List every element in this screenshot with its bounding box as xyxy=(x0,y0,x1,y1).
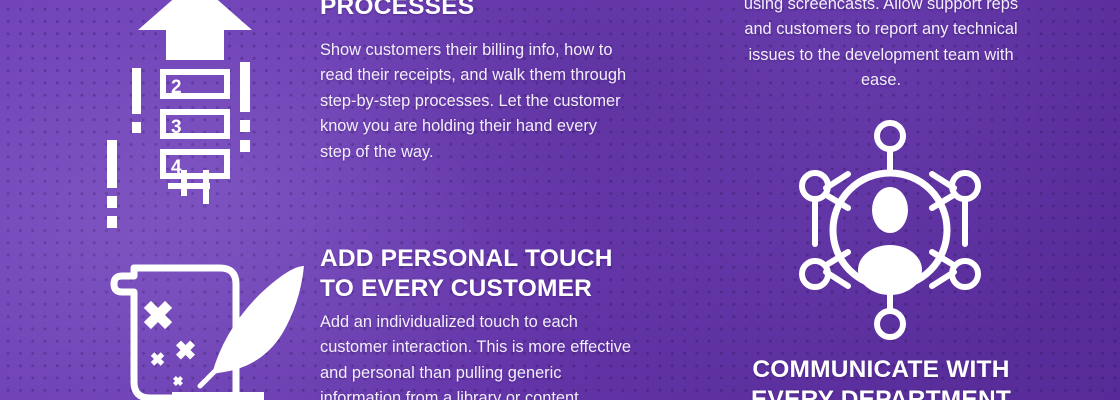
scroll-x-mark-medium xyxy=(176,340,195,359)
heading-processes: PROCESSES xyxy=(320,0,474,22)
step-number-2: 2 xyxy=(171,77,182,98)
step-number-3: 3 xyxy=(171,117,182,138)
numbered-steps-upload-icon: 1 2 3 4 xyxy=(100,0,290,174)
scroll-and-quill-icon xyxy=(112,252,308,400)
people-network-icon xyxy=(782,122,998,338)
body-add-personal-touch: Add an individualized touch to each cust… xyxy=(320,310,632,400)
heading-communicate-with-every-department: COMMUNICATE WITH EVERY DEPARTMENT xyxy=(742,355,1020,400)
step-number-4: 4 xyxy=(171,157,182,178)
body-screencast-support: using screencasts. Allow support reps an… xyxy=(742,0,1020,94)
step-number-1: 1 xyxy=(171,42,182,63)
scroll-x-mark-large xyxy=(144,301,172,329)
heading-add-personal-touch: ADD PERSONAL TOUCH TO EVERY CUSTOMER xyxy=(320,244,613,304)
scroll-body-right xyxy=(134,268,236,392)
exclamation-mark-left-tall xyxy=(132,68,141,133)
scroll-x-mark-small xyxy=(151,352,164,365)
person-body-shape xyxy=(858,245,922,295)
exclamation-mark-left-short xyxy=(107,140,117,228)
body-processes: Show customers their billing info, how t… xyxy=(320,38,630,165)
person-head-shape xyxy=(872,187,908,233)
exclamation-mark-right-tall xyxy=(240,62,250,152)
upload-arrow-shape xyxy=(138,0,252,60)
scroll-x-mark-tiny xyxy=(173,376,183,386)
infographic-canvas: 1 2 3 4 xyxy=(0,0,1120,400)
quill-nib xyxy=(200,370,216,386)
